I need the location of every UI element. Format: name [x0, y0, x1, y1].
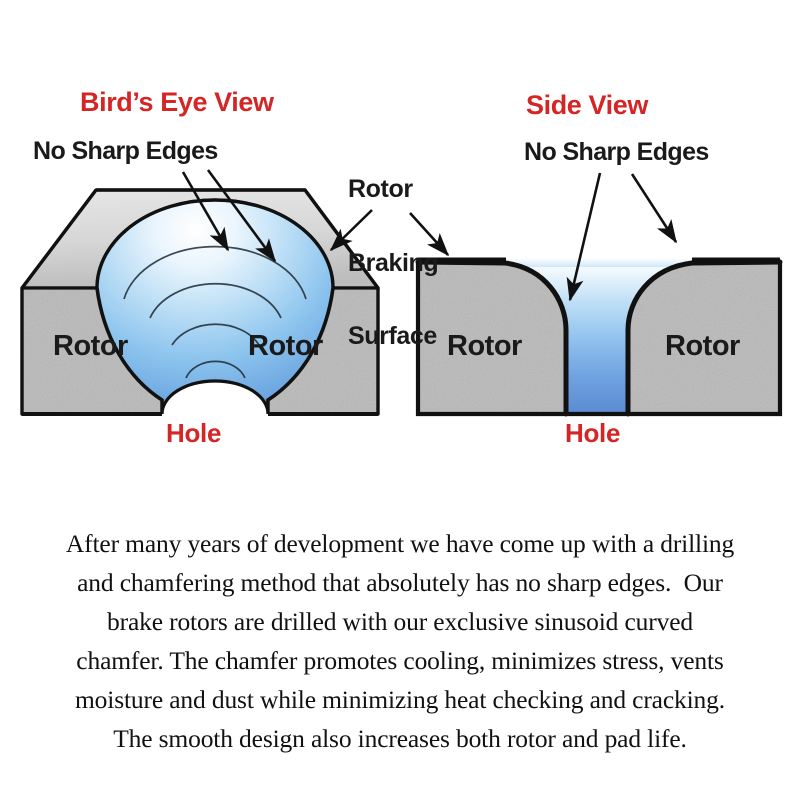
callout-no-sharp-edges-left: No Sharp Edges: [33, 139, 218, 165]
paragraph-line: and chamfering method that absolutely ha…: [0, 563, 800, 602]
bird-eye-block: [22, 190, 378, 414]
callout-line-3: Surface: [348, 324, 438, 349]
callout-line-1: Rotor: [348, 177, 438, 202]
paragraph-line: After many years of development we have …: [0, 524, 800, 563]
page-title-birds-eye-view: Bird’s Eye View: [80, 89, 274, 117]
diagram-page: Bird’s Eye View No Sharp Edges Rotor Rot…: [0, 0, 800, 800]
arrow-icon: [632, 174, 676, 242]
label-hole-sideview: Hole: [565, 420, 620, 447]
label-rotor-right-birdseye: Rotor: [248, 330, 323, 363]
callout-rotor-braking-surface: Rotor Braking Surface: [348, 128, 438, 398]
callout-line-2: Braking: [348, 251, 438, 276]
label-rotor-right-sideview: Rotor: [665, 330, 740, 363]
paragraph-line: The smooth design also increases both ro…: [0, 719, 800, 758]
page-title-side-view: Side View: [526, 92, 648, 120]
paragraph-line: moisture and dust while minimizing heat …: [0, 680, 800, 719]
paragraph-line: chamfer. The chamfer promotes cooling, m…: [0, 641, 800, 680]
label-rotor-left-sideview: Rotor: [447, 330, 522, 363]
label-hole-birdseye: Hole: [166, 420, 221, 447]
description-paragraph: After many years of development we have …: [0, 524, 800, 758]
callout-no-sharp-edges-right: No Sharp Edges: [524, 140, 709, 166]
paragraph-line: brake rotors are drilled with our exclus…: [0, 602, 800, 641]
label-rotor-left-birdseye: Rotor: [53, 330, 128, 363]
